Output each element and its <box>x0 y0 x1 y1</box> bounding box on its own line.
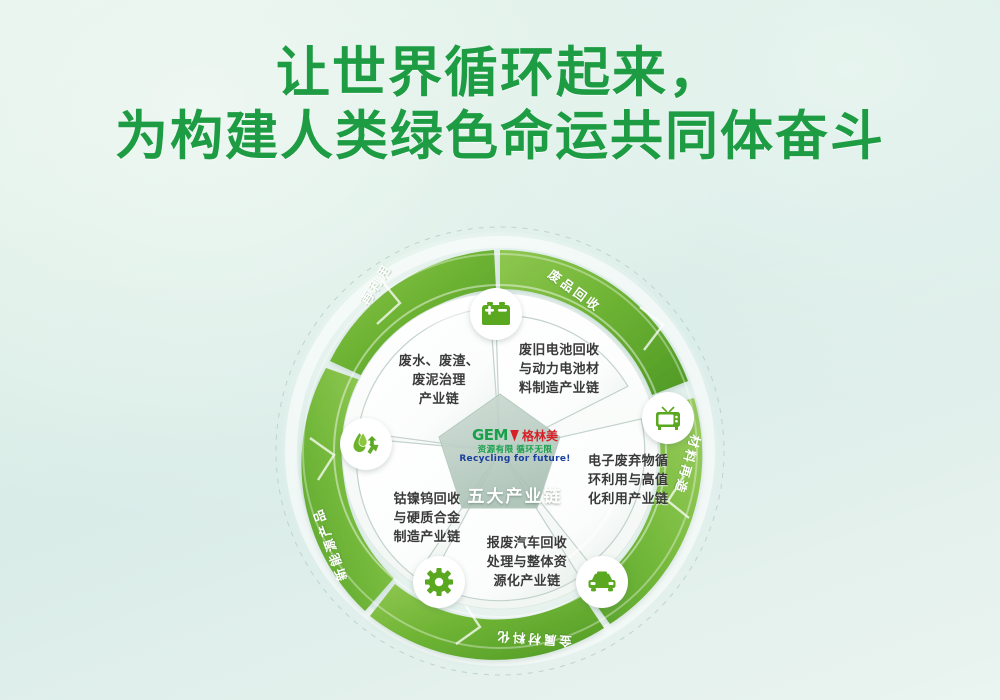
gem-logo-triangle-icon <box>510 430 519 442</box>
gear-icon <box>413 556 465 608</box>
gem-logo-chinese: 格林美 <box>522 430 558 442</box>
page-title-line-1: 让世界循环起来， <box>0 42 1000 106</box>
gem-logo-slogan-en: Recycling for future! <box>455 455 575 464</box>
gem-logo: GEM 格林美 资源有限 循环无限 Recycling for future! <box>455 428 575 464</box>
gem-logo-latin: GEM <box>472 428 508 443</box>
gem-logo-slogan-cn: 资源有限 循环无限 <box>455 445 575 454</box>
segment-label-auto: 报废汽车回收 处理与整体资 源化产业链 <box>472 534 582 591</box>
center-title: 五大产业链 <box>455 482 575 507</box>
water-recycle-icon <box>340 418 392 470</box>
segment-label-battery: 废旧电池回收 与动力电池材 料制造产业链 <box>519 341 639 398</box>
car-icon <box>576 556 628 608</box>
page-title-line-2: 为构建人类绿色命运共同体奋斗 <box>0 106 1000 169</box>
page-title: 让世界循环起来， 为构建人类绿色命运共同体奋斗 <box>0 42 1000 168</box>
gem-logo-brand-row: GEM 格林美 <box>455 428 575 443</box>
tv-icon <box>642 392 694 444</box>
battery-icon <box>470 288 522 340</box>
segment-label-waste: 废水、废渣、 废泥治理 产业链 <box>380 352 498 409</box>
